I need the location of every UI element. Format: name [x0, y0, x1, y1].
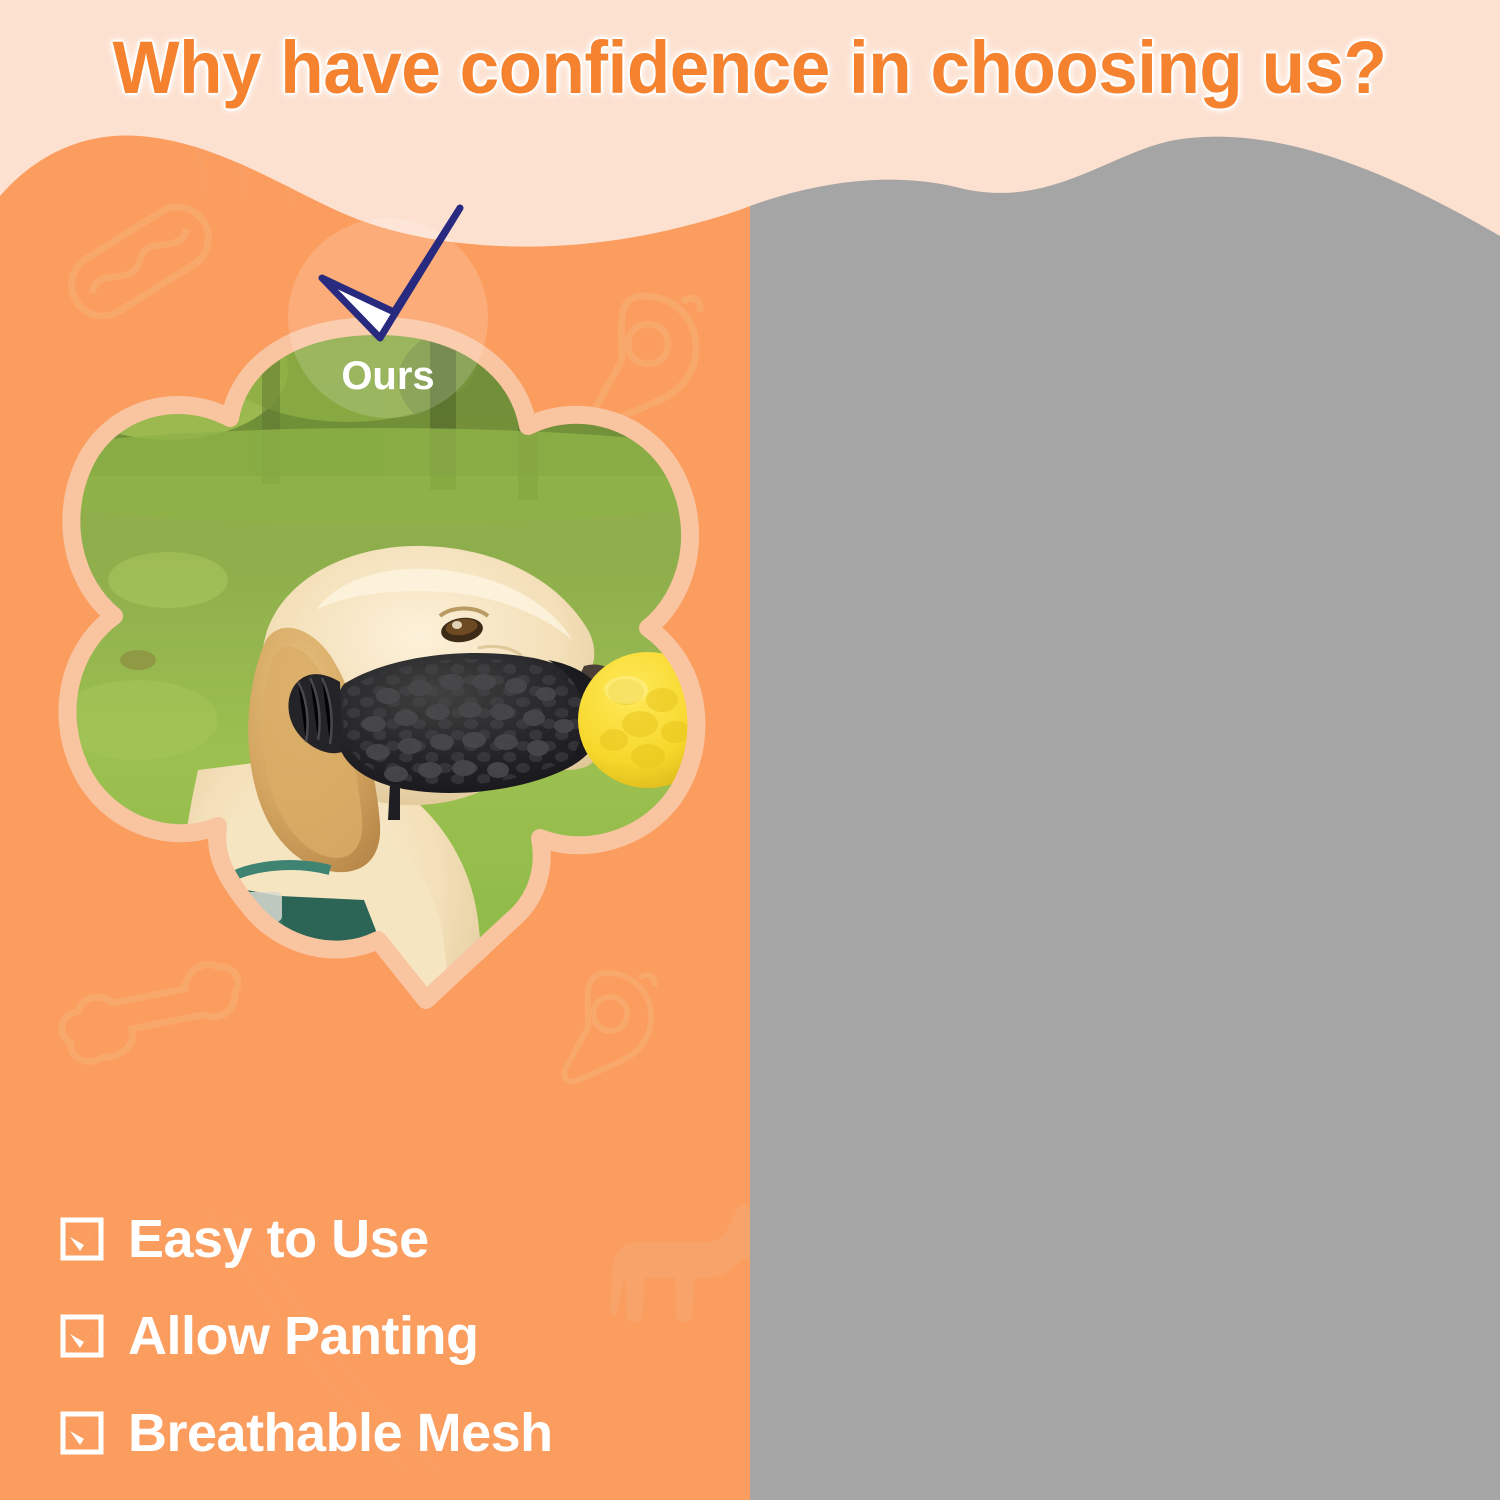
badge-ours: Ours: [288, 218, 488, 418]
list-item: Easy to Use: [58, 1190, 553, 1287]
list-item-label: Easy to Use: [128, 1208, 429, 1270]
checkbox-checked-icon: [58, 1215, 106, 1263]
checkbox-checked-icon: [58, 1312, 106, 1360]
list-item: Breathable Mesh: [58, 1384, 553, 1481]
checkbox-checked-icon: [58, 1409, 106, 1457]
list-item-label: Allow Panting: [128, 1305, 479, 1367]
panel-ours: Ours Easy to Use Allow Panting: [0, 0, 750, 1500]
check-mark-icon: [288, 200, 488, 370]
infographic-stage: Ours Easy to Use Allow Panting: [0, 0, 1500, 1500]
badge-ours-label: Ours: [341, 356, 434, 418]
list-item: Allow Panting: [58, 1287, 553, 1384]
feature-list-ours: Easy to Use Allow Panting Breathable Mes…: [58, 1190, 553, 1481]
page-title: Why have confidence in choosing us?: [113, 25, 1387, 110]
header: Why have confidence in choosing us?: [0, 0, 1500, 135]
list-item-label: Breathable Mesh: [128, 1402, 553, 1464]
panel-others: Others Heavy Difficulty Eating: [750, 0, 1500, 1500]
photo-frame-ours: [48, 300, 708, 1130]
